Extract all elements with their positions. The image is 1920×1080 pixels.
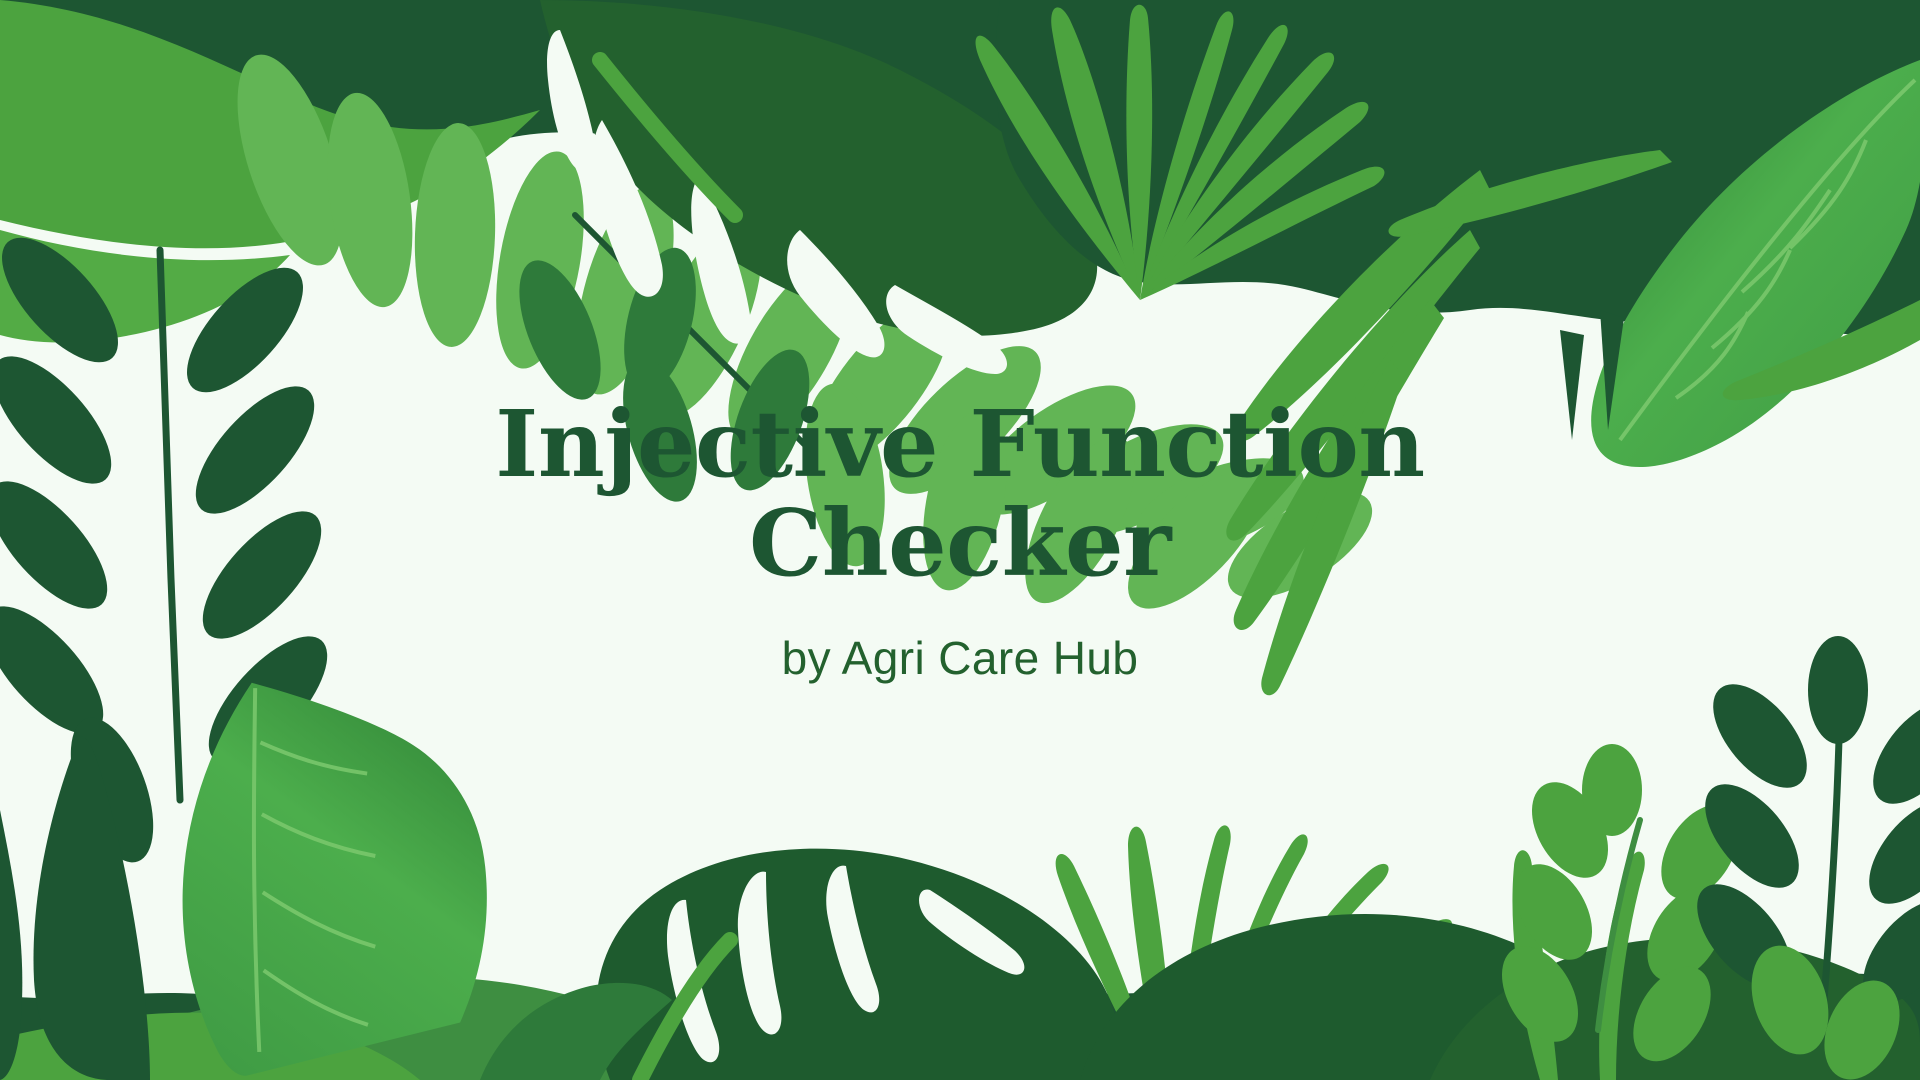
title-line-2: Checker bbox=[749, 489, 1171, 597]
page-title: Injective Function Checker bbox=[495, 395, 1424, 594]
title-block: Injective Function Checker by Agri Care … bbox=[0, 0, 1920, 1080]
title-line-1: Injective Function bbox=[495, 390, 1424, 498]
page-subtitle: by Agri Care Hub bbox=[782, 631, 1139, 685]
presentation-slide: Injective Function Checker by Agri Care … bbox=[0, 0, 1920, 1080]
